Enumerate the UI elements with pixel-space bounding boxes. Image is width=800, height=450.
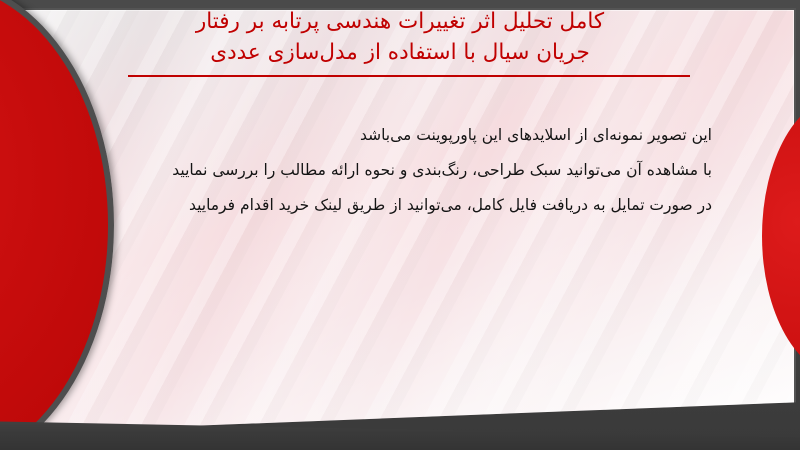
body-line-3: در صورت تمایل به دریافت فایل کامل، می‌تو… bbox=[88, 188, 712, 223]
slide-body-text: این تصویر نمونه‌ای از اسلایدهای این پاور… bbox=[88, 118, 712, 223]
title-line-1: کامل تحلیل اثر تغییرات هندسی پرتابه بر ر… bbox=[0, 6, 800, 37]
title-underline-rule bbox=[128, 75, 690, 77]
title-line-2: جریان سیال با استفاده از مدل‌سازی عددی bbox=[0, 37, 800, 68]
slide-title: کامل تحلیل اثر تغییرات هندسی پرتابه بر ر… bbox=[0, 6, 800, 68]
presentation-slide: کامل تحلیل اثر تغییرات هندسی پرتابه بر ر… bbox=[0, 0, 800, 450]
body-line-1: این تصویر نمونه‌ای از اسلایدهای این پاور… bbox=[88, 118, 712, 153]
body-line-2: با مشاهده آن می‌توانید سبک طراحی، رنگ‌بن… bbox=[88, 153, 712, 188]
